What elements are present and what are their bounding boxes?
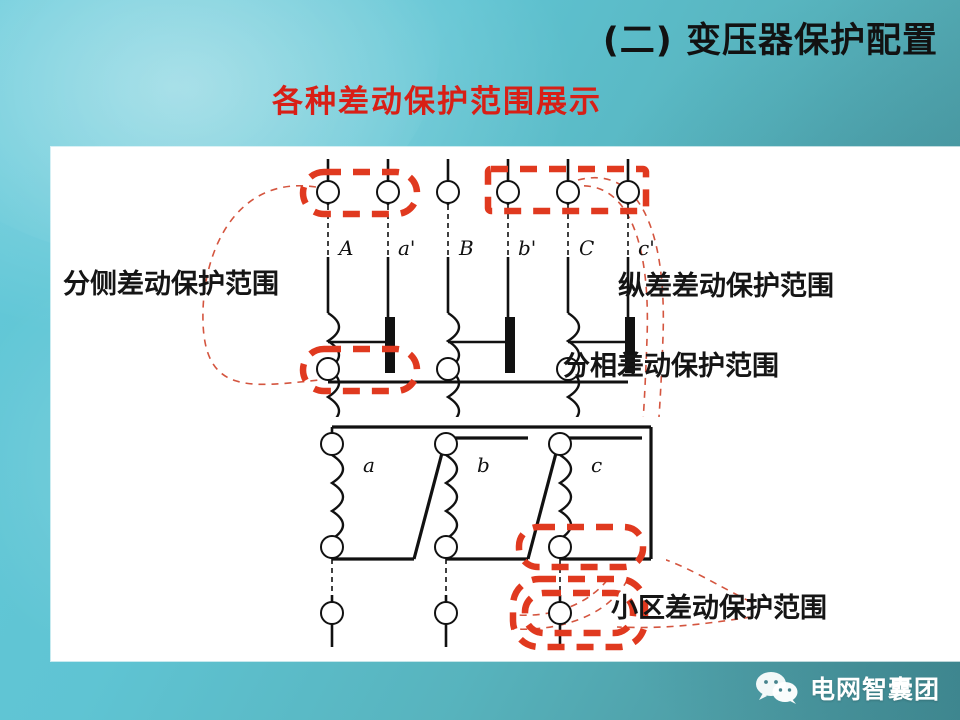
annotation-right-mid: 分相差动保护范围	[563, 350, 779, 382]
annotation-right-top: 纵差差动保护范围	[618, 270, 834, 302]
ct-b-prime	[497, 181, 519, 203]
ct-lv-b-top	[435, 433, 457, 455]
ct-A-neutral	[317, 358, 339, 380]
label-lv-c: c	[591, 453, 602, 477]
hv-terminal-labels: A a' B b' C c'	[337, 236, 655, 260]
watermark-text: 电网智囊团	[810, 670, 940, 706]
ct-lv-c-out	[549, 602, 571, 624]
diagram-panel: A a' B b' C c'	[51, 147, 960, 661]
annotation-left: 分侧差动保护范围	[63, 268, 279, 300]
ct-B-neutral	[437, 358, 459, 380]
label-cp: c'	[638, 236, 655, 260]
annotation-right-bottom: 小区差动保护范围	[611, 592, 827, 624]
label-bp: b'	[518, 236, 536, 260]
slide-root: (二) 变压器保护配置 各种差动保护范围展示	[0, 0, 960, 720]
core-limb-A	[385, 317, 395, 373]
ct-lv-b-bot	[435, 536, 457, 558]
wechat-icon	[754, 671, 800, 705]
ct-lv-c-bot	[549, 536, 571, 558]
ct-B	[437, 181, 459, 203]
ct-A	[317, 181, 339, 203]
label-ap: a'	[398, 236, 415, 260]
page-title: (二) 变压器保护配置	[0, 12, 938, 63]
core-limb-B	[505, 317, 515, 373]
watermark: 电网智囊团	[754, 670, 940, 706]
ct-C	[557, 181, 579, 203]
label-lv-a: a	[363, 453, 375, 477]
ct-lv-c-top	[549, 433, 571, 455]
protection-zone-diagram: A a' B b' C c'	[51, 147, 960, 661]
label-C: C	[579, 236, 594, 260]
ct-lv-a-out	[321, 602, 343, 624]
page-subtitle: 各种差动保护范围展示	[272, 76, 602, 121]
label-lv-b: b	[477, 453, 490, 477]
ct-a-prime	[377, 181, 399, 203]
label-B: B	[458, 236, 474, 260]
ct-lv-a-bot	[321, 536, 343, 558]
ct-c-prime	[617, 181, 639, 203]
ct-lv-a-top	[321, 433, 343, 455]
ct-lv-b-out	[435, 602, 457, 624]
label-A: A	[337, 236, 353, 260]
